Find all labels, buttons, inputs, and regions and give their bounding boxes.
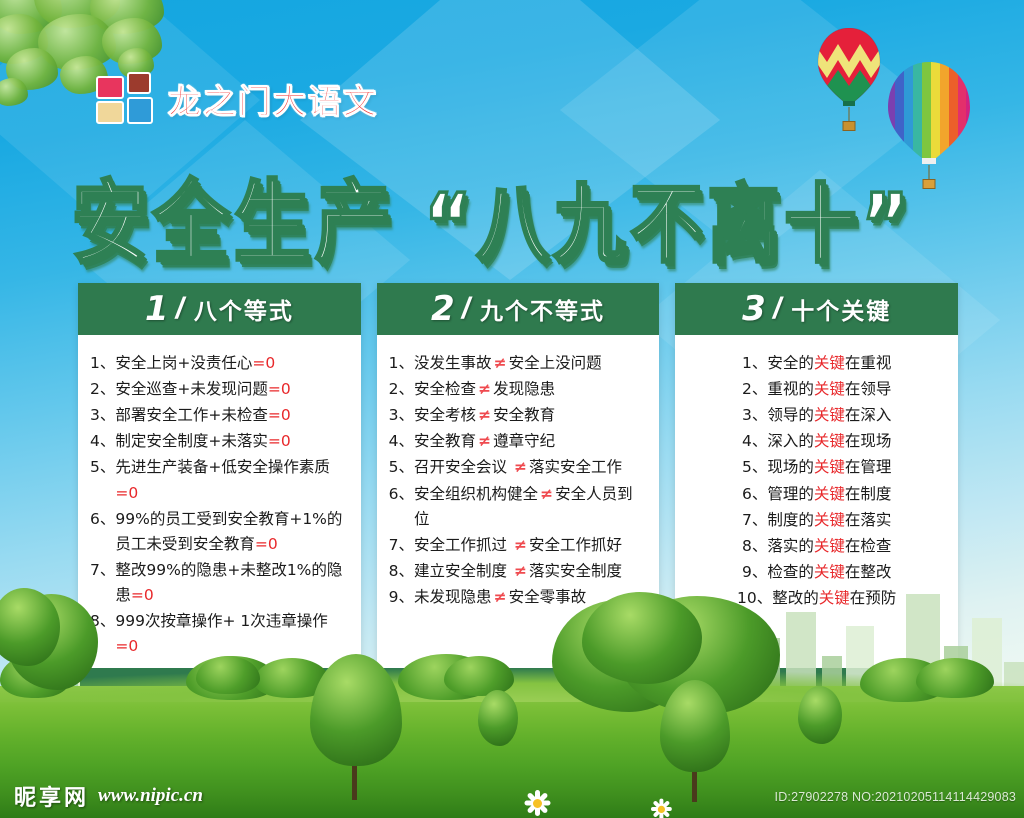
list-item-text: 管理的关键在制度 <box>767 482 891 507</box>
list-item: 7、安全工作抓过 ≠安全工作抓好 <box>389 533 648 558</box>
list-item: 5、现场的关键在管理 <box>687 455 946 480</box>
watermark: 昵享网 www.nipic.cn <box>14 780 203 812</box>
plain-text: 安全零事故 <box>509 588 587 606</box>
list-item: 6、管理的关键在制度 <box>687 482 946 507</box>
card-1-slash: / <box>176 292 184 326</box>
list-item: 6、99%的员工受到安全教育+1%的员工未受到安全教育=0 <box>90 507 349 557</box>
list-item-index: 2、 <box>742 377 767 402</box>
plain-text: 安全上没问题 <box>509 354 602 372</box>
plain-text: 领导的 <box>767 406 814 424</box>
not-equal-icon: ≠ <box>476 406 493 424</box>
page-title-quoted: “八九不离十” <box>424 175 914 274</box>
plain-text: 安全组织机构健全 <box>414 485 538 503</box>
plain-text: 制度的 <box>767 511 814 529</box>
not-equal-icon: ≠ <box>512 458 529 476</box>
plain-text: 安全工作抓过 <box>414 536 512 554</box>
list-item-index: 3、 <box>90 403 115 428</box>
highlight-red: 关键 <box>814 380 845 398</box>
plain-text: 先进生产装备+低安全操作素质 <box>115 458 330 476</box>
not-equal-icon: ≠ <box>538 485 555 503</box>
list-item-index: 6、 <box>389 482 414 532</box>
not-equal-icon: ≠ <box>512 562 529 580</box>
card-2-number: 2 <box>431 289 455 329</box>
poster-canvas: 龙之门大语文 安全生产“八九不离十” 1 / 八个等式 1、安全上岗+没责任心=… <box>0 0 1024 818</box>
card-2-title: 九个不等式 <box>480 292 605 326</box>
shrub-small <box>478 690 518 746</box>
daisy-flower-icon <box>651 799 672 818</box>
list-item: 2、安全巡查+未发现问题=0 <box>90 377 349 402</box>
list-item: 5、召开安全会议 ≠落实安全工作 <box>389 455 648 480</box>
highlight-red: 关键 <box>814 432 845 450</box>
list-item-index: 2、 <box>90 377 115 402</box>
hot-air-balloon-red-green-icon <box>816 28 882 132</box>
list-item-text: 召开安全会议 ≠落实安全工作 <box>414 455 647 480</box>
brand-logo: 龙之门大语文 <box>96 72 378 126</box>
plain-text: 建立安全制度 <box>414 562 512 580</box>
logo-square-4 <box>127 97 153 124</box>
not-equal-icon: ≠ <box>476 432 493 450</box>
list-item-index: 8、 <box>389 559 414 584</box>
plain-text: 安全巡查+未发现问题 <box>115 380 268 398</box>
list-item-text: 安全教育≠遵章守纪 <box>414 429 647 454</box>
plain-text: 在管理 <box>845 458 892 476</box>
plain-text: 安全上岗+没责任心 <box>115 354 252 372</box>
plain-text: 在领导 <box>845 380 892 398</box>
card-1-header: 1 / 八个等式 <box>78 283 361 335</box>
plain-text: 重视的 <box>767 380 814 398</box>
plain-text: 在现场 <box>845 432 892 450</box>
list-item-text: 制度的关键在落实 <box>767 508 891 533</box>
card-2-header: 2 / 九个不等式 <box>377 283 660 335</box>
list-item: 8、999次按章操作+ 1次违章操作=0 <box>90 609 349 659</box>
list-item-index: 8、 <box>742 534 767 559</box>
list-item: 3、领导的关键在深入 <box>687 403 946 428</box>
list-item-index: 3、 <box>389 403 414 428</box>
plain-text: 安全的 <box>767 354 814 372</box>
brand-name: 龙之门大语文 <box>168 75 378 123</box>
logo-square-1 <box>96 76 124 99</box>
card-1: 1 / 八个等式 1、安全上岗+没责任心=02、安全巡查+未发现问题=03、部署… <box>78 283 361 691</box>
logo-square-2 <box>127 72 151 94</box>
highlight-red: =0 <box>268 406 291 424</box>
plain-text: 制定安全制度+未落实 <box>115 432 268 450</box>
watermark-cn: 昵享网 <box>14 780 89 812</box>
list-item-text: 部署安全工作+未检查=0 <box>115 403 348 428</box>
plain-text: 安全工作抓好 <box>529 536 622 554</box>
card-1-list: 1、安全上岗+没责任心=02、安全巡查+未发现问题=03、部署安全工作+未检查=… <box>90 351 349 659</box>
highlight-red: 关键 <box>814 354 845 372</box>
card-3-header: 3 / 十个关键 <box>675 283 958 335</box>
not-equal-icon: ≠ <box>492 588 509 606</box>
list-item-text: 先进生产装备+低安全操作素质=0 <box>115 455 348 505</box>
list-item-text: 重视的关键在领导 <box>767 377 891 402</box>
highlight-red: =0 <box>115 484 138 502</box>
plain-text: 999次按章操作+ 1次违章操作 <box>115 612 327 630</box>
bush <box>196 656 260 694</box>
watermark-url: www.nipic.cn <box>98 785 203 807</box>
list-item-text: 安全考核≠安全教育 <box>414 403 647 428</box>
plain-text: 在制度 <box>845 485 892 503</box>
card-3-slash: / <box>773 292 781 326</box>
highlight-red: 关键 <box>814 511 845 529</box>
list-item-text: 领导的关键在深入 <box>767 403 891 428</box>
plain-text: 在深入 <box>845 406 892 424</box>
not-equal-icon: ≠ <box>476 380 493 398</box>
list-item-index: 2、 <box>389 377 414 402</box>
logo-square-3 <box>96 101 124 124</box>
highlight-red: 关键 <box>814 406 845 424</box>
not-equal-icon: ≠ <box>492 354 509 372</box>
list-item-text: 99%的员工受到安全教育+1%的员工未受到安全教育=0 <box>115 507 348 557</box>
page-title-main: 安全生产 <box>72 170 396 275</box>
list-item-text: 深入的关键在现场 <box>767 429 891 454</box>
list-item: 6、安全组织机构健全≠安全人员到位 <box>389 482 648 532</box>
highlight-red: =0 <box>131 586 154 604</box>
list-item-text: 制定安全制度+未落实=0 <box>115 429 348 454</box>
list-item-text: 安全上岗+没责任心=0 <box>115 351 348 376</box>
plain-text: 现场的 <box>767 458 814 476</box>
card-3-title: 十个关键 <box>791 292 891 326</box>
image-id-tag: ID:27902278 NO:20210205114114429083 <box>775 790 1016 804</box>
bush <box>916 658 994 698</box>
list-item-index: 3、 <box>742 403 767 428</box>
highlight-red: =0 <box>268 380 291 398</box>
list-item: 1、安全上岗+没责任心=0 <box>90 351 349 376</box>
list-item: 4、制定安全制度+未落实=0 <box>90 429 349 454</box>
plain-text: 在检查 <box>845 537 892 555</box>
list-item-text: 落实的关键在检查 <box>767 534 891 559</box>
highlight-red: =0 <box>115 637 138 655</box>
list-item-index: 9、 <box>389 585 414 610</box>
plain-text: 落实安全工作 <box>529 458 622 476</box>
card-1-body: 1、安全上岗+没责任心=02、安全巡查+未发现问题=03、部署安全工作+未检查=… <box>78 335 361 668</box>
list-item: 8、落实的关键在检查 <box>687 534 946 559</box>
plain-text: 管理的 <box>767 485 814 503</box>
list-item: 1、安全的关键在重视 <box>687 351 946 376</box>
not-equal-icon: ≠ <box>512 536 529 554</box>
list-item-text: 没发生事故≠安全上没问题 <box>414 351 647 376</box>
list-item-text: 999次按章操作+ 1次违章操作=0 <box>115 609 348 659</box>
highlight-red: =0 <box>252 354 275 372</box>
plain-text: 深入的 <box>767 432 814 450</box>
card-2-slash: / <box>462 292 470 326</box>
list-item: 2、重视的关键在领导 <box>687 377 946 402</box>
list-item: 3、安全考核≠安全教育 <box>389 403 648 428</box>
list-item-text: 安全检查≠发现隐患 <box>414 377 647 402</box>
bush <box>444 656 514 696</box>
plain-text: 安全教育 <box>414 432 476 450</box>
list-item-index: 6、 <box>742 482 767 507</box>
daisy-flower-icon <box>524 790 550 816</box>
list-item-index: 4、 <box>389 429 414 454</box>
plain-text: 在落实 <box>845 511 892 529</box>
plain-text: 未发现隐患 <box>414 588 492 606</box>
list-item-index: 7、 <box>742 508 767 533</box>
list-item-index: 7、 <box>389 533 414 558</box>
list-item: 3、部署安全工作+未检查=0 <box>90 403 349 428</box>
highlight-red: 关键 <box>814 537 845 555</box>
list-item-text: 安全工作抓过 ≠安全工作抓好 <box>414 533 647 558</box>
list-item-text: 安全巡查+未发现问题=0 <box>115 377 348 402</box>
card-1-title: 八个等式 <box>194 292 294 326</box>
plain-text: 没发生事故 <box>414 354 492 372</box>
list-item-index: 6、 <box>90 507 115 557</box>
list-item-index: 5、 <box>389 455 414 480</box>
list-item: 5、先进生产装备+低安全操作素质=0 <box>90 455 349 505</box>
plain-text: 召开安全会议 <box>414 458 512 476</box>
page-title: 安全生产“八九不离十” <box>72 150 952 280</box>
list-item-index: 5、 <box>742 455 767 480</box>
plain-text: 落实的 <box>767 537 814 555</box>
highlight-red: =0 <box>268 432 291 450</box>
plain-text: 安全教育 <box>493 406 555 424</box>
list-item-text: 安全的关键在重视 <box>767 351 891 376</box>
plain-text: 发现隐患 <box>493 380 555 398</box>
list-item: 4、深入的关键在现场 <box>687 429 946 454</box>
card-3-number: 3 <box>742 289 766 329</box>
list-item-index: 4、 <box>90 429 115 454</box>
list-item-index: 5、 <box>90 455 115 505</box>
plain-text: 在重视 <box>845 354 892 372</box>
list-item-index: 4、 <box>742 429 767 454</box>
plain-text: 99%的员工受到安全教育+1%的员工未受到安全教育 <box>115 510 342 553</box>
highlight-red: =0 <box>255 535 278 553</box>
list-item-text: 现场的关键在管理 <box>767 455 891 480</box>
list-item-text: 安全组织机构健全≠安全人员到位 <box>414 482 647 532</box>
list-item-text: 整改99%的隐患+未整改1%的隐患=0 <box>115 558 348 608</box>
list-item: 1、没发生事故≠安全上没问题 <box>389 351 648 376</box>
tree-large <box>582 592 702 684</box>
four-square-logo-icon <box>96 72 154 126</box>
list-item-index: 1、 <box>742 351 767 376</box>
highlight-red: 关键 <box>814 485 845 503</box>
list-item-index: 7、 <box>90 558 115 608</box>
card-1-number: 1 <box>145 289 169 329</box>
plain-text: 部署安全工作+未检查 <box>115 406 268 424</box>
list-item: 2、安全检查≠发现隐患 <box>389 377 648 402</box>
list-item-index: 1、 <box>90 351 115 376</box>
plain-text: 安全检查 <box>414 380 476 398</box>
shrub-small <box>798 686 842 744</box>
plain-text: 安全考核 <box>414 406 476 424</box>
list-item: 7、整改99%的隐患+未整改1%的隐患=0 <box>90 558 349 608</box>
list-item: 4、安全教育≠遵章守纪 <box>389 429 648 454</box>
list-item: 7、制度的关键在落实 <box>687 508 946 533</box>
plain-text: 遵章守纪 <box>493 432 555 450</box>
list-item-index: 1、 <box>389 351 414 376</box>
highlight-red: 关键 <box>814 458 845 476</box>
